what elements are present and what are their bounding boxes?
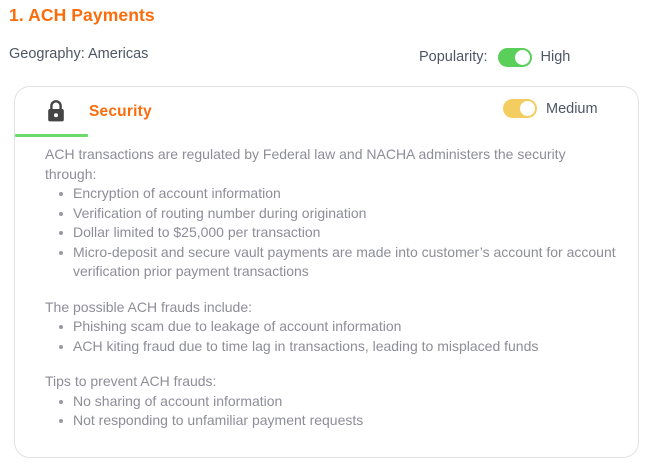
tips-bullet-list: No sharing of account information Not re… — [45, 392, 616, 431]
frauds-bullet-list: Phishing scam due to leakage of account … — [45, 317, 616, 356]
security-rating-value: Medium — [546, 101, 598, 117]
spacer — [45, 356, 616, 372]
intro-bullet-list: Encryption of account information Verifi… — [45, 184, 616, 282]
tips-heading: Tips to prevent ACH frauds: — [45, 372, 616, 392]
list-item: Not responding to unfamiliar payment req… — [45, 411, 616, 431]
geography-label: Geography: Americas — [9, 46, 148, 62]
card-header: Security Medium — [15, 87, 638, 135]
tab-active-underline — [15, 134, 88, 137]
list-item: ACH kiting fraud due to time lag in tran… — [45, 337, 616, 357]
lock-icon — [43, 98, 69, 125]
toggle-knob — [520, 101, 535, 116]
card-body: ACH transactions are regulated by Federa… — [15, 145, 640, 431]
tab-security[interactable]: Security — [89, 103, 152, 121]
spacer — [45, 282, 616, 298]
popularity-value: High — [541, 49, 571, 65]
security-card: Security Medium ACH transactions are reg… — [14, 86, 639, 458]
security-rating-toggle[interactable] — [503, 99, 537, 118]
meta-row: Geography: Americas Popularity: High — [0, 44, 655, 70]
list-item: Phishing scam due to leakage of account … — [45, 317, 616, 337]
list-item: Micro-deposit and secure vault payments … — [45, 243, 616, 282]
list-item: Encryption of account information — [45, 184, 616, 204]
list-item: Verification of routing number during or… — [45, 204, 616, 224]
list-item: Dollar limited to $25,000 per transactio… — [45, 223, 616, 243]
popularity-group: Popularity: High — [419, 44, 570, 70]
list-item: No sharing of account information — [45, 392, 616, 412]
toggle-knob — [515, 50, 530, 65]
intro-paragraph: ACH transactions are regulated by Federa… — [45, 145, 616, 184]
popularity-toggle[interactable] — [498, 48, 532, 67]
rating-group: Medium — [503, 99, 598, 118]
popularity-label: Popularity: — [419, 49, 488, 65]
page-title: 1. ACH Payments — [9, 5, 155, 26]
frauds-heading: The possible ACH frauds include: — [45, 298, 616, 318]
